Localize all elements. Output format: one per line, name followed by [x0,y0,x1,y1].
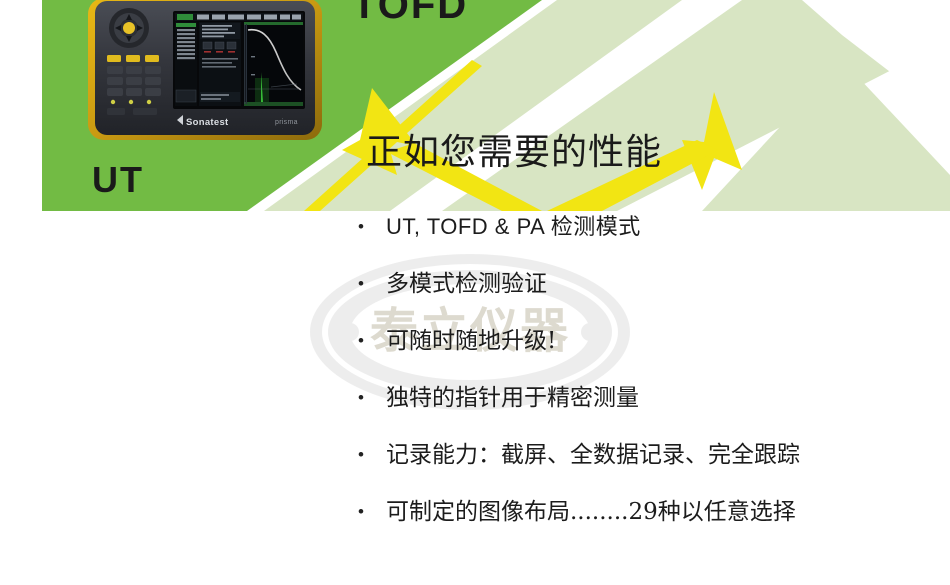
bullet-label: 可随时随地升级! [386,326,556,356]
bullet-marker: • [352,497,386,527]
device-fn-key-2 [126,55,140,62]
bullet-label: 记录能力：截屏、全数据记录、完全跟踪 [386,440,800,470]
device-nav-center-button [123,22,135,34]
list-item: • 可随时随地升级! [352,326,942,383]
bullet-list: • UT, TOFD & PA 检测模式 • 多模式检测验证 • 可随时随地升级… [352,212,942,554]
slide-canvas: TOFD UT [0,0,950,585]
banner-label-tofd: TOFD [352,0,468,27]
bullet-label: 可制定的图像布局........29种以任意选择 [386,497,796,527]
banner-label-ut: UT [92,159,144,200]
device-led-1 [111,100,115,104]
device-svg: Sonatest prisma [85,0,325,144]
page-title: 正如您需要的性能 [366,133,662,173]
bullet-label: 多模式检测验证 [386,269,547,299]
list-item: • 多模式检测验证 [352,269,942,326]
device-keypad [107,66,161,96]
list-item: • 可制定的图像布局........29种以任意选择 [352,497,942,554]
bullet-marker: • [352,383,386,413]
bullet-marker: • [352,269,386,299]
bullet-label: UT, TOFD & PA 检测模式 [386,212,641,242]
device-led-2 [129,100,133,104]
screen-waveform-panel [244,22,303,106]
device-photo: Sonatest prisma [85,0,325,144]
svg-text:Sonatest: Sonatest [186,117,229,128]
bullet-marker: • [352,326,386,356]
bullet-label: 独特的指针用于精密测量 [386,383,639,413]
list-item: • 记录能力：截屏、全数据记录、完全跟踪 [352,440,942,497]
device-model-label: prisma [275,119,298,126]
bullet-marker: • [352,440,386,470]
bullet-marker: • [352,212,386,242]
device-fn-key-3 [145,55,159,62]
list-item: • UT, TOFD & PA 检测模式 [352,212,942,269]
list-item: • 独特的指针用于精密测量 [352,383,942,440]
device-led-3 [147,100,151,104]
device-fn-key-1 [107,55,121,62]
